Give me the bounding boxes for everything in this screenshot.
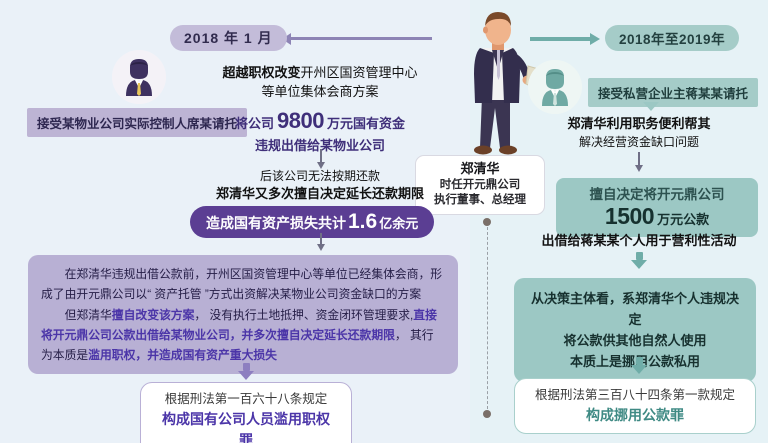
left-analysis-p2: 但郑清华擅自改变该方案， 没有执行土地抵押、资金闭环管理要求,直接将开元鼎公司公… [41, 305, 445, 366]
right-fat-arrow-2-stem [636, 357, 643, 365]
left-analysis-p1: 在郑清华违规出借公款前，开州区国资管理中心等单位已经集体会商，形成了由开元鼎公司… [41, 264, 445, 305]
left-analysis-p2-b: ， 没有执行土地抵押、资金闭环管理要求, [194, 308, 413, 322]
right-box-amount: 1500 [605, 203, 654, 230]
left-arrow-down-2-stem [320, 233, 322, 244]
right-fat-arrow-1-stem [636, 252, 643, 260]
right-analysis-line1: 从决策主体看，系郑清华个人违规决定 [528, 288, 742, 330]
left-act-line2: 等单位集体会商方案 [180, 83, 460, 102]
right-outcome-card: 根据刑法第三百八十四条第一款规定 构成挪用公款罪 [514, 378, 756, 434]
left-act-line1-rest: 开州区国资管理中心 [301, 65, 418, 80]
right-arrow-down-1 [634, 152, 644, 172]
right-fat-arrow-1 [631, 252, 647, 269]
left-loss-capsule: 造成国有资产损失共计 1.6 亿余元 [190, 206, 434, 238]
right-date-pill: 2018年至2019年 [605, 25, 739, 51]
left-outcome-card: 根据刑法第一百六十八条规定 构成国有公司人员滥用职权罪 [140, 382, 352, 443]
right-arrow-down-1-stem [638, 152, 640, 165]
left-act-line1: 超越职权改变开州区国资管理中心 [180, 64, 460, 83]
left-followup-line1: 后该公司无法按期还款 [180, 168, 460, 185]
right-fat-arrow-2 [631, 357, 647, 374]
right-amount-box: 擅自决定将开元鼎公司 1500 万元公款 [556, 178, 758, 237]
divider-dot-top [483, 218, 491, 226]
right-box-caption: 出借给蒋某某个人用于营利性活动 [510, 232, 768, 251]
left-act-line1-bold: 超越职权改变 [222, 65, 300, 80]
right-outcome-line2: 构成挪用公款罪 [531, 405, 739, 426]
right-analysis-line2: 将公款供其他自然人使用 [528, 330, 742, 351]
left-fat-arrow-head [238, 371, 254, 380]
right-act-block: 郑清华利用职务便利帮其 解决经营资金缺口问题 [510, 115, 768, 151]
left-fat-arrow-stem [243, 363, 250, 371]
left-followup-block: 后该公司无法按期还款 郑清华又多次擅自决定延长还款期限 [180, 168, 460, 204]
right-act-line1: 郑清华利用职务便利帮其 [510, 115, 768, 134]
right-triangle-icon [643, 102, 659, 111]
infographic-canvas: 郑清华 时任开元鼎公司 执行董事、总经理 2018 年 1 月 接受某物业公司实… [0, 0, 768, 443]
right-fat-arrow-1-head [631, 260, 647, 269]
left-analysis-paragraph: 在郑清华违规出借公款前，开州区国资管理中心等单位已经集体会商，形成了由开元鼎公司… [28, 255, 458, 374]
person-avatar-teal-icon [528, 60, 582, 114]
left-arrow-shaft [291, 37, 432, 40]
left-loss-suffix: 亿余元 [379, 213, 418, 232]
left-amount-value: 9800 [277, 105, 324, 137]
left-analysis-p2-hl3: 滥用职权，并造成国有资产重大损失 [88, 348, 277, 362]
left-analysis-p2-hl1: 擅自改变该方案 [112, 308, 195, 322]
right-flow-arrow [530, 32, 600, 46]
left-analysis-p1-b: “ 资产托管 ” [147, 287, 209, 301]
left-act-block: 超越职权改变开州区国资管理中心 等单位集体会商方案 将公司 9800 万元国有资… [180, 64, 460, 155]
left-arrow-down-2-head [317, 244, 325, 251]
left-outcome-line1: 根据刑法第一百六十八条规定 [157, 390, 335, 409]
right-arrow-head-icon [590, 33, 600, 45]
right-box-line1: 擅自决定将开元鼎公司 [574, 183, 740, 203]
right-outcome-line1: 根据刑法第三百八十四条第一款规定 [531, 386, 739, 405]
right-act-line2: 解决经营资金缺口问题 [510, 134, 768, 151]
right-request-tag: 接受私营企业主蒋某某请托 [588, 78, 758, 107]
right-box-unit: 万元公款 [657, 209, 709, 228]
left-loss-value: 1.6 [348, 210, 377, 234]
right-fat-arrow-2-head [631, 365, 647, 374]
center-dashed-divider [487, 222, 488, 414]
left-date-pill: 2018 年 1 月 [170, 25, 287, 51]
left-arrow-down-1 [316, 149, 326, 169]
left-analysis-p2-a: 但郑清华 [65, 308, 112, 322]
left-arrow-down-1-stem [320, 149, 322, 162]
left-followup-line2: 郑清华又多次擅自决定延长还款期限 [180, 185, 460, 204]
divider-dot-bottom [483, 410, 491, 418]
left-amount-suffix: 万元国有资金 [327, 115, 405, 134]
left-flow-arrow [282, 32, 432, 45]
left-amount-prefix: 将公司 [235, 115, 274, 134]
right-box-amount-row: 1500 万元公款 [574, 203, 740, 230]
left-fat-arrow-down [238, 363, 254, 380]
right-arrow-shaft [530, 37, 590, 41]
left-outcome-line2: 构成国有公司人员滥用职权罪 [157, 409, 335, 443]
left-amount-row: 将公司 9800 万元国有资金 [180, 105, 460, 137]
person-avatar-purple-icon [112, 50, 166, 104]
left-arrow-down-2 [316, 233, 326, 251]
left-analysis-p1-c: 方式出资解决某物业公司资金缺口的方案 [209, 287, 421, 301]
left-loss-prefix: 造成国有资产损失共计 [206, 213, 346, 233]
right-arrow-down-1-head [635, 165, 643, 172]
